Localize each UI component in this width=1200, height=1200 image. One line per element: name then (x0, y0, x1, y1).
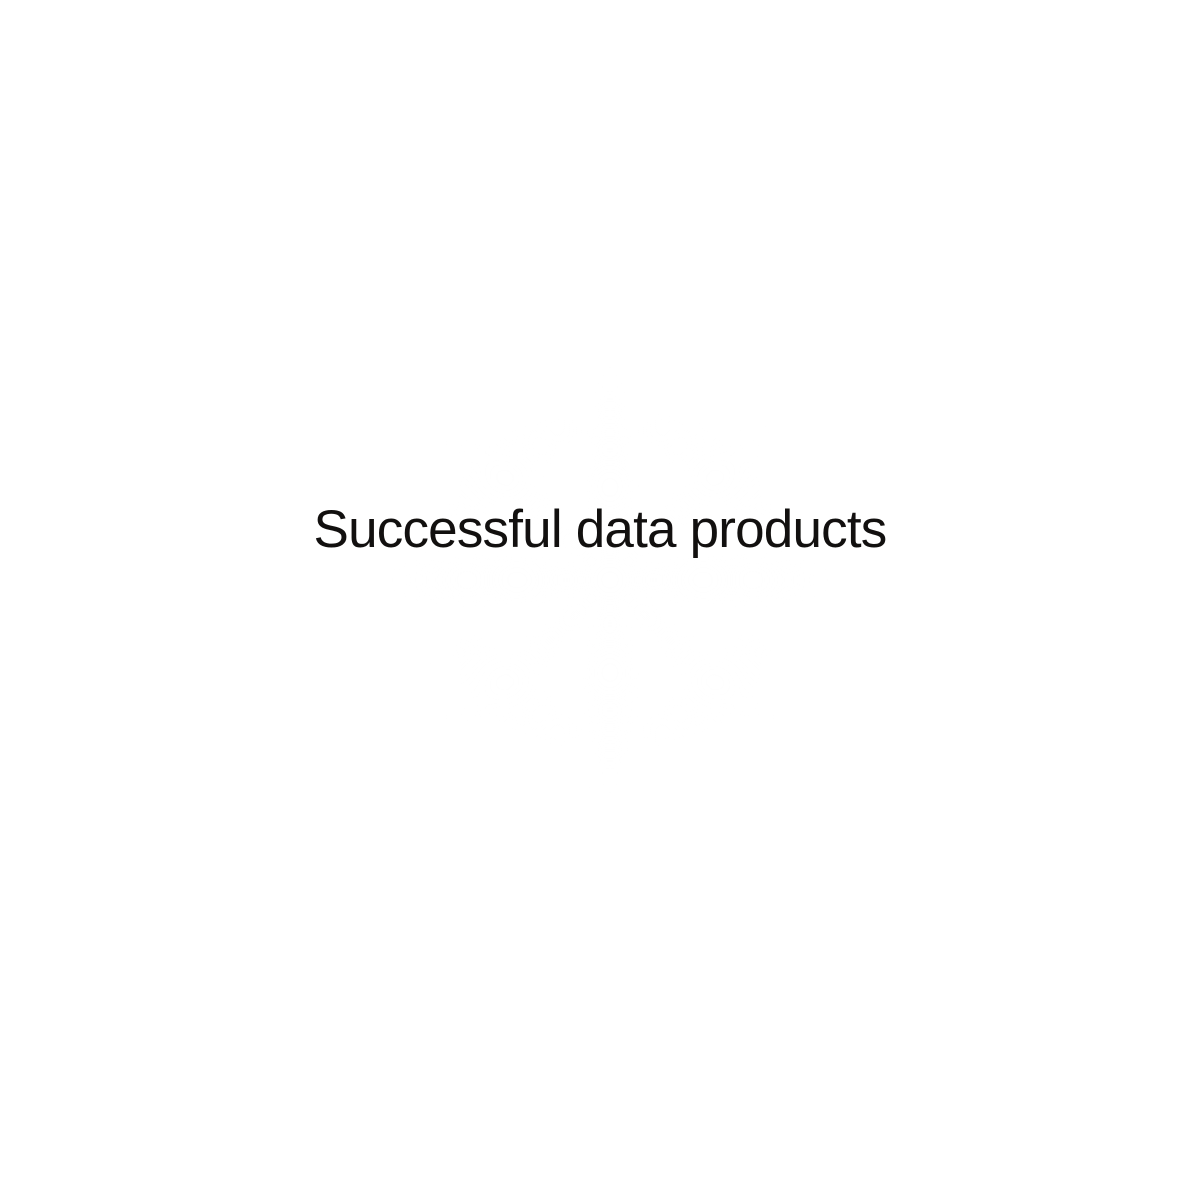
venn-diagram: What users want Successful data products… (0, 0, 1200, 1200)
venn-circle-feasible (490, 475, 1180, 1165)
